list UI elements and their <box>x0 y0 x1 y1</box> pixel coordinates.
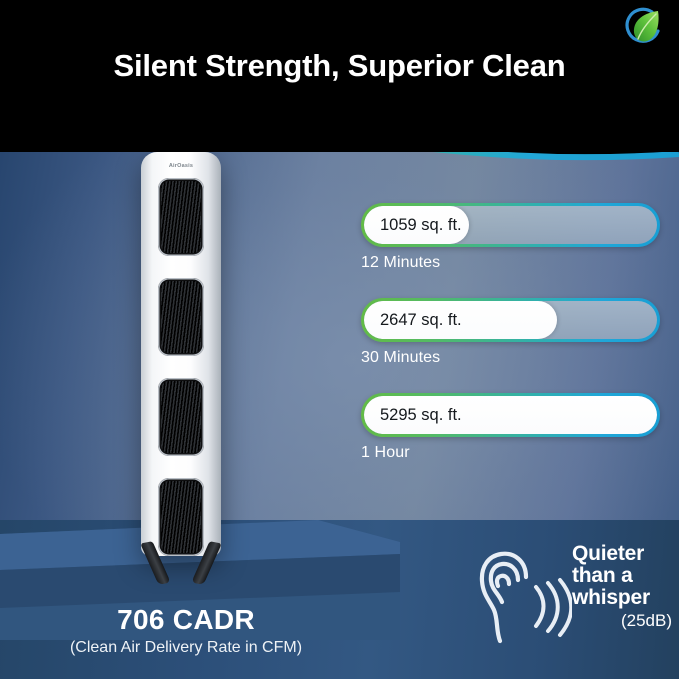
purifier-brand-label: AirOasis <box>141 163 221 169</box>
bar-caption-1: 12 Minutes <box>361 254 661 272</box>
coverage-bar-3[interactable]: 5295 sq. ft. <box>361 393 660 437</box>
cadr-headline: 706 CADR <box>0 604 372 636</box>
air-purifier-product: AirOasis <box>127 152 235 572</box>
purifier-tower-body: AirOasis <box>141 152 221 556</box>
quiet-line-2: than a <box>572 565 676 587</box>
coverage-bar-2[interactable]: 2647 sq. ft. <box>361 298 660 342</box>
vent-panel-3 <box>158 378 204 456</box>
ear-soundwave-icon <box>476 547 572 653</box>
coverage-bar-1[interactable]: 1059 sq. ft. <box>361 203 660 247</box>
cadr-block: 706 CADR (Clean Air Delivery Rate in CFM… <box>0 604 372 657</box>
coverage-bar-group-1: 1059 sq. ft. 12 Minutes <box>361 203 661 272</box>
coverage-bar-group-2: 2647 sq. ft. 30 Minutes <box>361 298 661 367</box>
quiet-decibels: (25dB) <box>572 611 676 631</box>
bar-track-3: 5295 sq. ft. <box>364 396 657 434</box>
vent-panel-1 <box>158 178 204 256</box>
bar-caption-2: 30 Minutes <box>361 349 661 367</box>
bar-track-1: 1059 sq. ft. <box>364 206 657 244</box>
quiet-line-3: whisper <box>572 587 676 609</box>
bar-value-1: 1059 sq. ft. <box>380 206 462 244</box>
bar-value-2: 2647 sq. ft. <box>380 301 462 339</box>
header-band: Silent Strength, Superior Clean <box>0 0 679 152</box>
vent-panel-4 <box>158 478 204 556</box>
page-title: Silent Strength, Superior Clean <box>0 48 679 84</box>
cadr-subtext: (Clean Air Delivery Rate in CFM) <box>0 639 372 657</box>
bar-track-2: 2647 sq. ft. <box>364 301 657 339</box>
bar-caption-3: 1 Hour <box>361 444 661 462</box>
leaf-circle-logo-icon <box>622 5 666 49</box>
vent-panel-2 <box>158 278 204 356</box>
bar-value-3: 5295 sq. ft. <box>380 396 462 434</box>
quiet-text-block: Quieter than a whisper (25dB) <box>572 543 676 631</box>
quiet-block: Quieter than a whisper (25dB) <box>476 541 676 659</box>
coverage-bar-group-3: 5295 sq. ft. 1 Hour <box>361 393 661 462</box>
infographic-canvas: AirOasis Silent Strength, Superior Clean <box>0 0 679 679</box>
quiet-line-1: Quieter <box>572 543 676 565</box>
coverage-bars: 1059 sq. ft. 12 Minutes 2647 sq. ft. 30 … <box>361 203 661 488</box>
